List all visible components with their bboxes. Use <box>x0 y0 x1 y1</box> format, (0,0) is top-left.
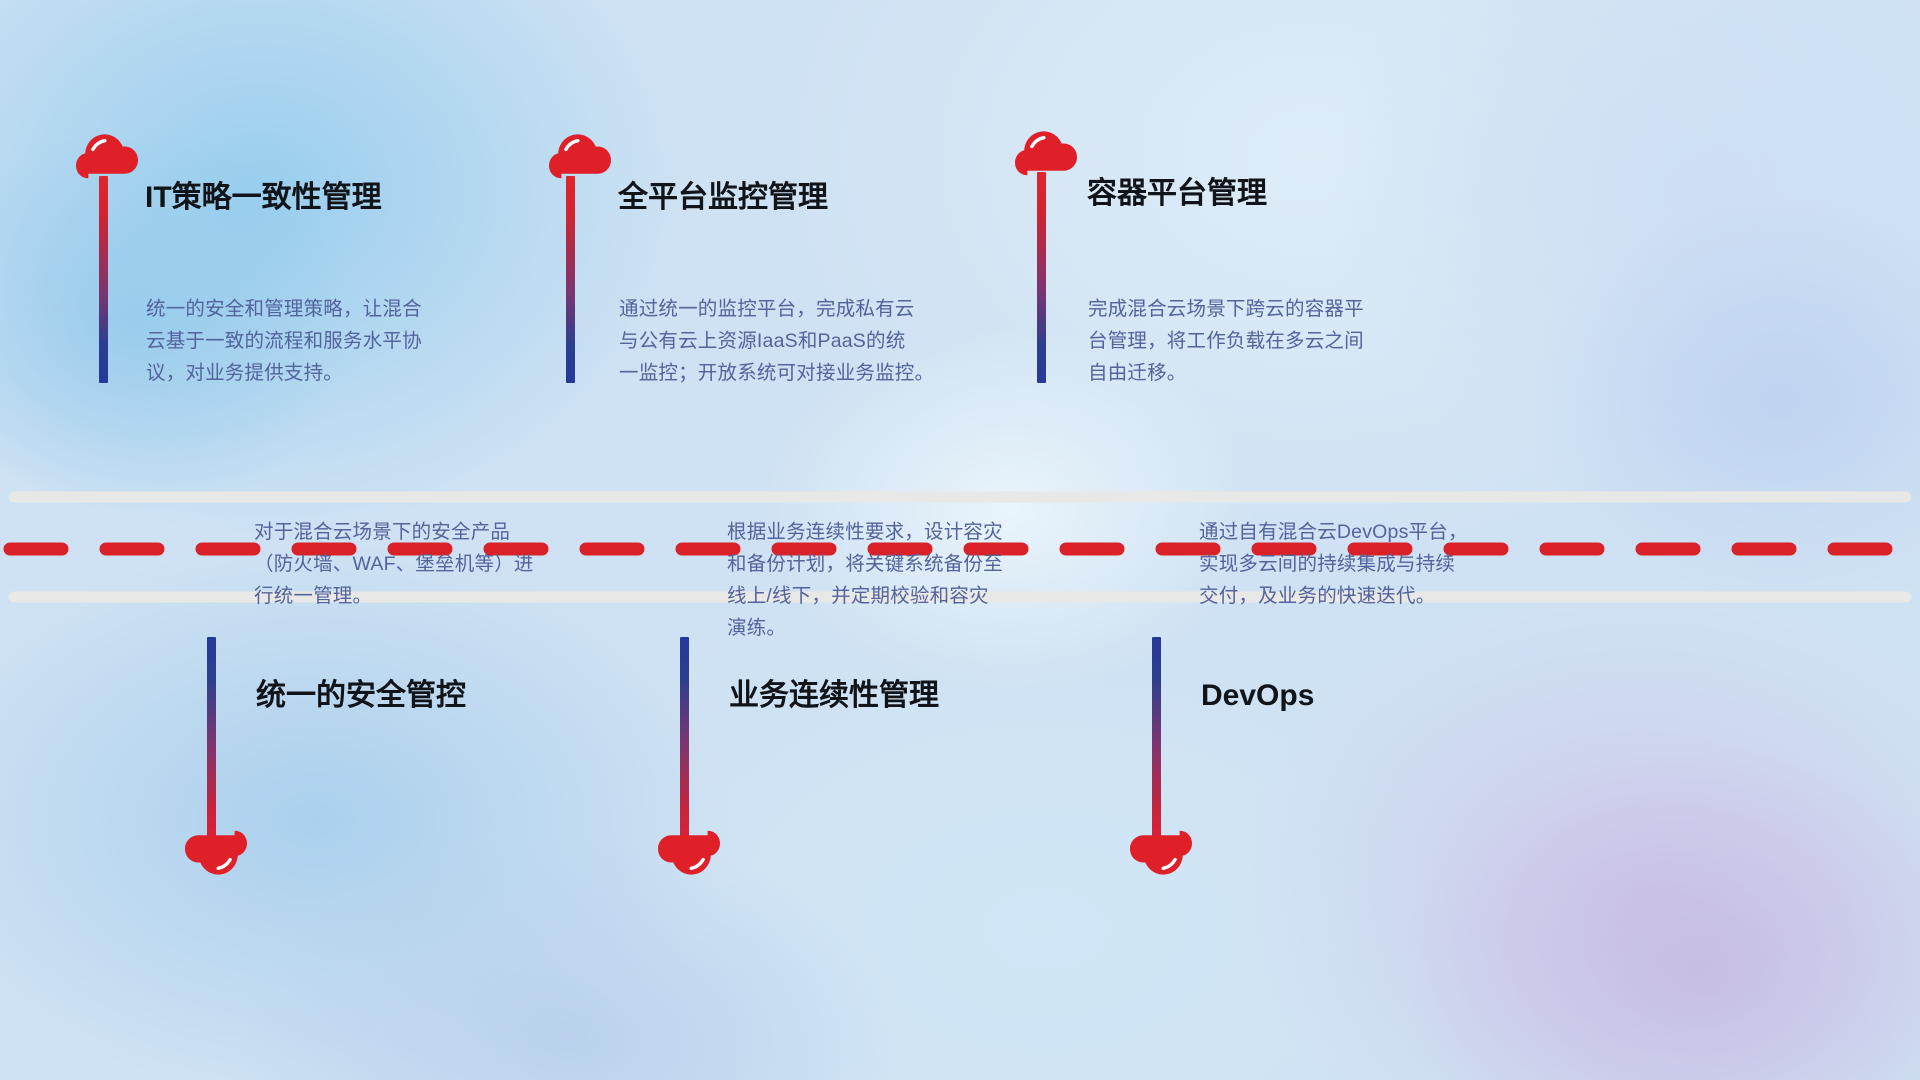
desc-line: 云基于一致的流程和服务水平协 <box>146 325 422 357</box>
desc-line: 根据业务连续性要求，设计容灾 <box>727 516 1003 548</box>
cloud-icon <box>549 131 611 179</box>
pin-stem <box>566 176 575 383</box>
desc-line: （防火墙、WAF、堡垒机等）进 <box>254 548 534 580</box>
pin-description: 统一的安全和管理策略，让混合 云基于一致的流程和服务水平协 议，对业务提供支持。 <box>146 293 422 389</box>
cloud-icon <box>658 830 720 878</box>
desc-line: 交付，及业务的快速迭代。 <box>1199 580 1468 612</box>
cloud-icon <box>185 830 247 878</box>
pin-description: 对于混合云场景下的安全产品 （防火墙、WAF、堡垒机等）进 行统一管理。 <box>254 516 534 612</box>
pin-title: 业务连续性管理 <box>729 678 939 714</box>
cloud-icon <box>1015 128 1077 176</box>
desc-line: 演练。 <box>727 612 1003 644</box>
desc-line: 统一的安全和管理策略，让混合 <box>146 293 422 325</box>
desc-line: 台管理，将工作负载在多云之间 <box>1088 325 1364 357</box>
desc-line: 与公有云上资源IaaS和PaaS的统 <box>619 325 934 357</box>
pin-description: 完成混合云场景下跨云的容器平 台管理，将工作负载在多云之间 自由迁移。 <box>1088 293 1364 389</box>
pin-stem <box>680 637 689 840</box>
pin-description: 通过统一的监控平台，完成私有云 与公有云上资源IaaS和PaaS的统 一监控；开… <box>619 293 934 389</box>
desc-line: 实现多云间的持续集成与持续 <box>1199 548 1468 580</box>
pin-stem <box>99 176 108 383</box>
desc-line: 和备份计划，将关键系统备份至 <box>727 548 1003 580</box>
pin-title: DevOps <box>1201 678 1314 714</box>
pin-title: 容器平台管理 <box>1087 176 1267 212</box>
desc-line: 议，对业务提供支持。 <box>146 357 422 389</box>
desc-line: 对于混合云场景下的安全产品 <box>254 516 534 548</box>
pin-description: 根据业务连续性要求，设计容灾 和备份计划，将关键系统备份至 线上/线下，并定期校… <box>727 516 1003 644</box>
cloud-icon <box>76 131 138 179</box>
pin-title: 统一的安全管控 <box>256 678 466 714</box>
pin-stem <box>1152 637 1161 840</box>
desc-line: 行统一管理。 <box>254 580 534 612</box>
pin-stem <box>207 637 216 840</box>
desc-line: 线上/线下，并定期校验和容灾 <box>727 580 1003 612</box>
pin-title: IT策略一致性管理 <box>145 180 382 216</box>
pin-description: 通过自有混合云DevOps平台， 实现多云间的持续集成与持续 交付，及业务的快速… <box>1199 516 1468 612</box>
pin-title: 全平台监控管理 <box>618 180 828 216</box>
pin-stem <box>1037 172 1046 383</box>
desc-line: 完成混合云场景下跨云的容器平 <box>1088 293 1364 325</box>
desc-line: 通过统一的监控平台，完成私有云 <box>619 293 934 325</box>
desc-line: 一监控；开放系统可对接业务监控。 <box>619 357 934 389</box>
desc-line: 通过自有混合云DevOps平台， <box>1199 516 1468 548</box>
cloud-icon <box>1130 830 1192 878</box>
desc-line: 自由迁移。 <box>1088 357 1364 389</box>
